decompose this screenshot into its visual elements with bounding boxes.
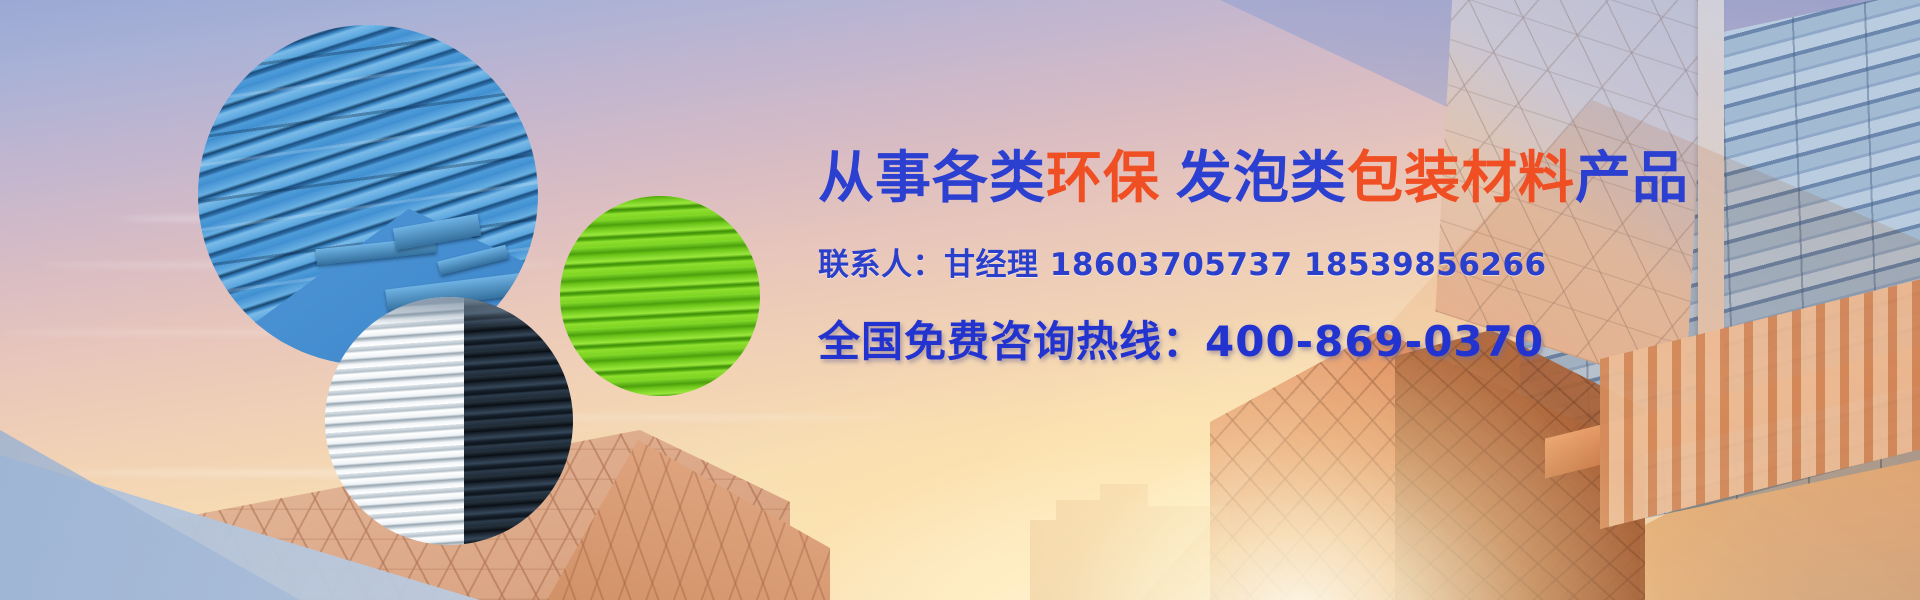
headline-segment-5: 产品 bbox=[1575, 146, 1689, 211]
headline-segment-1: 从事各类 bbox=[818, 146, 1046, 211]
foam-stack-top-edge bbox=[325, 297, 573, 327]
banner-copy: 从事各类环保发泡类包装材料产品 联系人：甘经理 18603705737 1853… bbox=[818, 150, 1828, 369]
headline-segment-4: 包装材料 bbox=[1347, 146, 1575, 211]
headline-segment-2: 环保 bbox=[1046, 146, 1160, 211]
hotline-line: 全国免费咨询热线：400-869-0370 bbox=[818, 308, 1828, 369]
black-foam-sheets bbox=[464, 297, 573, 545]
green-foam-layers-texture bbox=[560, 196, 760, 396]
headline: 从事各类环保发泡类包装材料产品 bbox=[818, 150, 1828, 209]
promo-banner: 从事各类环保发泡类包装材料产品 联系人：甘经理 18603705737 1853… bbox=[0, 0, 1920, 600]
white-foam-sheets bbox=[325, 297, 479, 545]
product-photo-green-foam bbox=[560, 196, 760, 396]
headline-segment-3: 发泡类 bbox=[1176, 146, 1347, 211]
product-photo-white-black-foam bbox=[325, 297, 573, 545]
contact-line: 联系人：甘经理 18603705737 18539856266 bbox=[818, 239, 1828, 284]
